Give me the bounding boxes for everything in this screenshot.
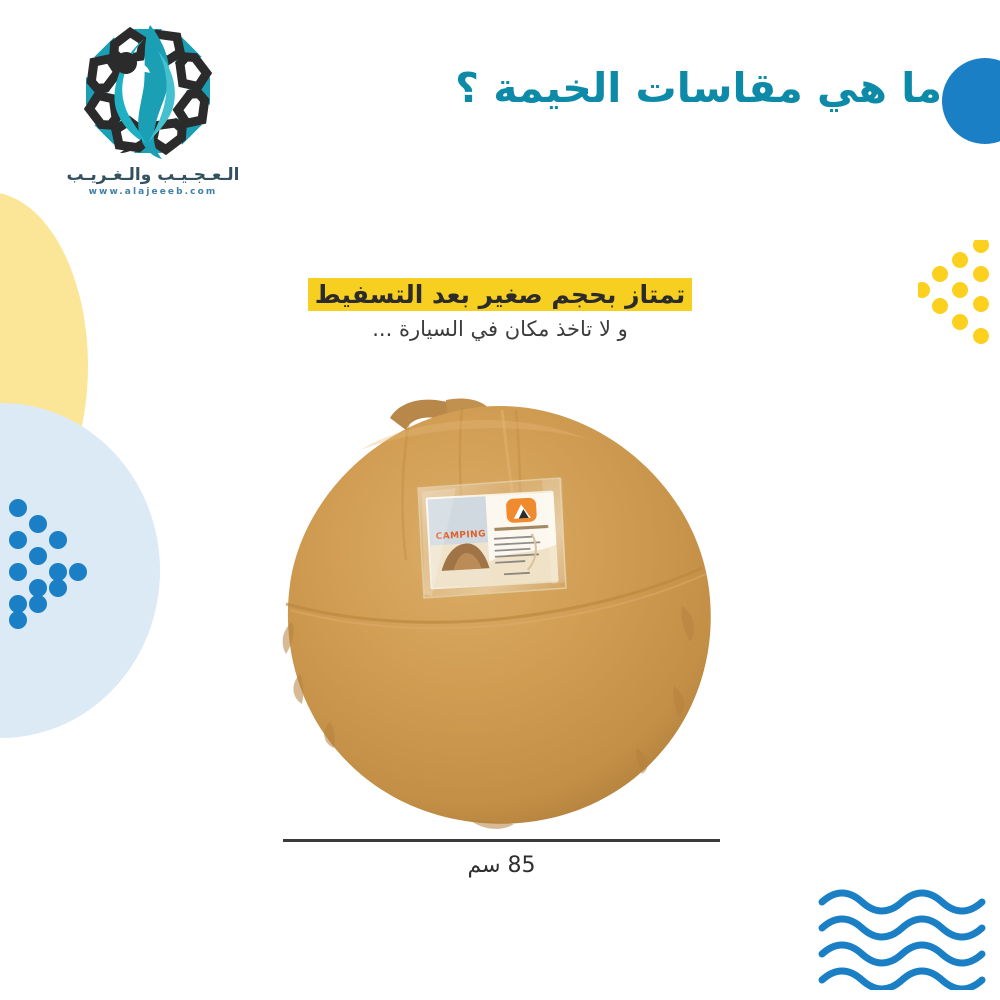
claim-sub-text: و لا تاخذ مكان في السيارة ... bbox=[0, 316, 1000, 342]
blue-dot-triangle-decoration bbox=[0, 498, 96, 630]
claim-highlight-text: تمتاز بحجم صغير بعد التسفيط bbox=[308, 278, 693, 311]
claim-block: تمتاز بحجم صغير بعد التسفيط و لا تاخذ مك… bbox=[0, 278, 1000, 342]
measurement-label: 85 سم bbox=[283, 852, 720, 880]
lightblue-semicircle-decoration bbox=[0, 403, 160, 738]
blue-waves-decoration bbox=[818, 886, 990, 990]
blue-circle-decoration bbox=[942, 58, 1000, 144]
round-tent-carry-bag-illustration: CAMPING TENT bbox=[270, 392, 730, 842]
brand-logo[interactable]: الـعـجـيـب والـغـريـب www.alajeeeb.com bbox=[53, 25, 253, 200]
poster-canvas: الـعـجـيـب والـغـريـب www.alajeeeb.com م… bbox=[0, 0, 1000, 1000]
measurement-line bbox=[283, 839, 720, 842]
product-image: CAMPING TENT bbox=[270, 392, 730, 842]
brand-name: الـعـجـيـب والـغـريـب bbox=[53, 165, 253, 185]
bag-body bbox=[288, 406, 711, 824]
product-label-pocket: CAMPING TENT bbox=[418, 478, 566, 598]
label-brand-logo-icon bbox=[506, 497, 537, 523]
alajeeb-bird-mandala-logo-icon bbox=[63, 25, 233, 165]
yellow-semicircle-decoration bbox=[0, 192, 88, 540]
page-title: ما هي مقاسات الخيمة ؟ bbox=[302, 58, 942, 118]
brand-website: www.alajeeeb.com bbox=[53, 187, 253, 197]
